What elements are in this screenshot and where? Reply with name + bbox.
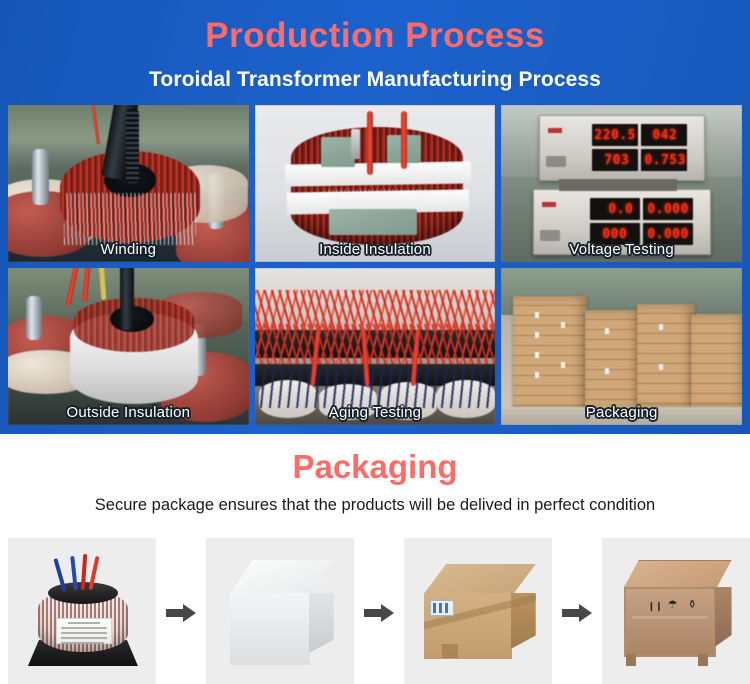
packaging-photo (501, 268, 742, 425)
arrow-right-icon (364, 604, 394, 622)
process-tile-packaging[interactable]: Packaging (501, 268, 742, 425)
shipping-label-icon (430, 600, 454, 616)
keep-dry-symbol-icon: ☂ (668, 600, 678, 611)
tile-label-outside-insulation: Outside Insulation (8, 404, 249, 421)
tile-label-aging-testing: Aging Testing (255, 404, 496, 421)
meter-lower-v1: 0.0 (608, 202, 633, 217)
arrow-right-icon (562, 604, 592, 622)
packaging-step-wooden-crate[interactable]: ❙❙ ☂ ⚱ (602, 538, 750, 684)
packaging-flow-row: ❙❙ ☂ ⚱ (0, 538, 750, 684)
process-tile-inside-insulation[interactable]: Inside Insulation (255, 105, 496, 262)
packaging-step-foam-box[interactable] (206, 538, 354, 684)
process-subtitle: Toroidal Transformer Manufacturing Proce… (8, 68, 742, 92)
voltage-testing-photo: 220.5 042 703 0.753 0.0 0.000 (501, 105, 742, 262)
meter-upper-v4: 0.753 (644, 153, 686, 168)
meter-lower-v4: 0.000 (647, 227, 689, 242)
tile-label-packaging: Packaging (501, 404, 742, 421)
packaging-tagline: Secure package ensures that the products… (0, 496, 750, 515)
flow-arrow-3-cell (552, 538, 601, 684)
tile-label-inside-insulation: Inside Insulation (255, 241, 496, 258)
transformer-nameplate (56, 618, 112, 644)
process-tile-winding[interactable]: Winding (8, 105, 249, 262)
transformer-photo (22, 552, 144, 674)
flow-arrow-2-cell (354, 538, 403, 684)
carton-box-photo (424, 564, 536, 662)
inside-insulation-photo (255, 105, 496, 262)
aging-testing-photo (255, 268, 496, 425)
process-tile-outside-insulation[interactable]: Outside Insulation (8, 268, 249, 425)
winding-photo (8, 105, 249, 262)
packaging-title: Packaging (0, 434, 750, 483)
packaging-section: Packaging Secure package ensures that th… (0, 434, 750, 684)
meter-lower-v2: 0.000 (647, 202, 689, 217)
tile-label-winding: Winding (8, 241, 249, 258)
foam-box-photo (230, 560, 334, 664)
outside-insulation-photo (8, 268, 249, 425)
arrow-right-icon (166, 604, 196, 622)
handle-with-care-symbol-icon: ⚱ (688, 600, 697, 611)
tile-label-voltage-testing: Voltage Testing (501, 241, 742, 258)
wooden-crate-photo: ❙❙ ☂ ⚱ (624, 560, 732, 666)
meter-upper-v3: 703 (604, 153, 629, 168)
page-root: Production Process Toroidal Transformer … (0, 0, 750, 684)
production-process-section: Production Process Toroidal Transformer … (0, 0, 750, 434)
process-header: Production Process Toroidal Transformer … (8, 8, 742, 92)
page-title: Production Process (8, 18, 742, 55)
process-tile-voltage-testing[interactable]: 220.5 042 703 0.753 0.0 0.000 (501, 105, 742, 262)
meter-upper-v1: 220.5 (594, 128, 636, 143)
meter-upper: 220.5 042 703 0.753 (539, 115, 705, 181)
meter-lower-v3: 000 (602, 227, 627, 242)
flow-arrow-1-cell (156, 538, 205, 684)
packaging-step-transformer[interactable] (8, 538, 156, 684)
fragile-symbol-icon: ❙❙ (648, 602, 663, 611)
process-image-grid: Winding Inside Insulation (8, 105, 742, 425)
packaging-step-carton-box[interactable] (404, 538, 552, 684)
meter-upper-v2: 042 (652, 128, 677, 143)
process-tile-aging-testing[interactable]: Aging Testing (255, 268, 496, 425)
